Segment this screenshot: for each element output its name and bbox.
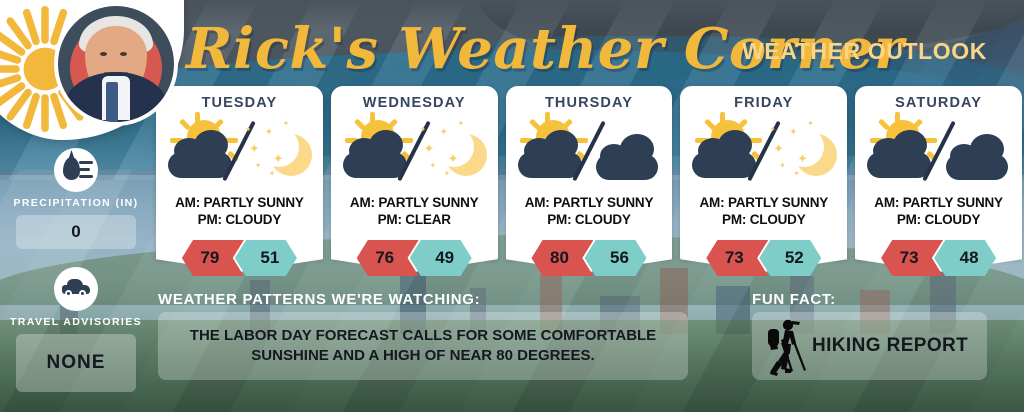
forecast-card[interactable]: SATURDAY	[855, 86, 1022, 282]
cloud-base	[343, 152, 407, 178]
fun-fact-box[interactable]: HIKING REPORT	[752, 312, 987, 380]
card-pm-line: PM: CLEAR	[334, 211, 495, 228]
car-wheel	[79, 290, 86, 297]
card-description: AM: PARTLY SUNNY PM: CLOUDY	[159, 194, 320, 229]
weather-patterns-label: WEATHER PATTERNS WE'RE WATCHING:	[158, 291, 480, 308]
high-temp-badge: 80	[531, 240, 593, 276]
avatar	[58, 6, 174, 122]
card-weather-icons: ✦ ✦ ✦ ✦ ✦ ✦ ✦	[331, 112, 498, 190]
fun-fact-label: FUN FACT:	[752, 291, 836, 308]
card-day-label: FRIDAY	[680, 95, 847, 111]
temperature-badges: 80 56	[506, 238, 673, 278]
card-am-line: AM: PARTLY SUNNY	[509, 194, 670, 211]
card-pm-line: PM: CLOUDY	[858, 211, 1019, 228]
high-temp-badge: 73	[706, 240, 768, 276]
drop-lines	[79, 161, 93, 182]
card-weather-icons: ✦ ✦ ✦ ✦ ✦ ✦ ✦	[680, 112, 847, 190]
water-drop-icon	[54, 148, 98, 192]
cloud-icon	[592, 116, 665, 186]
low-temp-badge: 52	[759, 240, 821, 276]
high-temp-badge: 73	[881, 240, 943, 276]
card-am-line: AM: PARTLY SUNNY	[683, 194, 844, 211]
temperature-badges: 73 48	[855, 238, 1022, 278]
weather-patterns-text: THE LABOR DAY FORECAST CALLS FOR SOME CO…	[158, 312, 688, 380]
temperature-badges: 79 51	[156, 238, 323, 278]
sidebar: PRECIPITATION (IN) 0 TRAVEL ADVISORIES N…	[0, 148, 152, 392]
cloud-puff	[970, 134, 1004, 164]
card-weather-icons	[506, 112, 673, 190]
car-shape	[62, 281, 90, 297]
high-temp-badge: 76	[357, 240, 419, 276]
card-day-label: TUESDAY	[156, 95, 323, 111]
card-am-line: AM: PARTLY SUNNY	[334, 194, 495, 211]
crescent-moon-stars-icon: ✦ ✦ ✦ ✦ ✦ ✦ ✦	[767, 116, 840, 186]
car-wheel	[65, 290, 72, 297]
precipitation-value: 0	[16, 215, 136, 249]
card-description: AM: PARTLY SUNNY PM: CLOUDY	[509, 194, 670, 229]
low-temp-badge: 48	[934, 240, 996, 276]
drop-shape	[63, 157, 80, 180]
low-temp-badge: 51	[235, 240, 297, 276]
cloud-base	[867, 152, 931, 178]
car-icon	[54, 267, 98, 311]
hiker-icon	[758, 316, 812, 376]
card-am-line: AM: PARTLY SUNNY	[159, 194, 320, 211]
card-pm-line: PM: CLOUDY	[509, 211, 670, 228]
forecast-card[interactable]: THURSDAY	[506, 86, 673, 282]
weather-graphic: Rick's Weather Corner WEATHER OUTLOOK TU…	[0, 0, 1024, 412]
weather-outlook-label: WEATHER OUTLOOK	[742, 38, 987, 65]
cloud-base	[692, 152, 756, 178]
travel-advisories-value: NONE	[16, 334, 136, 392]
avatar-eye	[120, 52, 127, 56]
travel-advisories-label: TRAVEL ADVISORIES	[0, 316, 152, 328]
cloud-base	[168, 152, 232, 178]
forecast-card[interactable]: TUESDAY ✦ ✦	[156, 86, 323, 282]
card-day-label: WEDNESDAY	[331, 95, 498, 111]
card-day-label: THURSDAY	[506, 95, 673, 111]
temperature-badges: 73 52	[680, 238, 847, 278]
crescent-moon-stars-icon: ✦ ✦ ✦ ✦ ✦ ✦ ✦	[243, 116, 316, 186]
card-description: AM: PARTLY SUNNY PM: CLOUDY	[683, 194, 844, 229]
card-am-line: AM: PARTLY SUNNY	[858, 194, 1019, 211]
high-temp-badge: 79	[182, 240, 244, 276]
forecast-row: TUESDAY ✦ ✦	[156, 86, 1022, 282]
avatar-eye	[100, 52, 107, 56]
forecast-card[interactable]: FRIDAY ✦ ✦	[680, 86, 847, 282]
precipitation-label: PRECIPITATION (IN)	[0, 197, 152, 209]
avatar-tie	[106, 82, 118, 122]
low-temp-badge: 56	[584, 240, 646, 276]
cloud-icon	[942, 116, 1015, 186]
card-description: AM: PARTLY SUNNY PM: CLOUDY	[858, 194, 1019, 229]
card-pm-line: PM: CLOUDY	[683, 211, 844, 228]
card-weather-icons: ✦ ✦ ✦ ✦ ✦ ✦ ✦	[156, 112, 323, 190]
card-weather-icons	[855, 112, 1022, 190]
card-description: AM: PARTLY SUNNY PM: CLEAR	[334, 194, 495, 229]
low-temp-badge: 49	[410, 240, 472, 276]
temperature-badges: 76 49	[331, 238, 498, 278]
forecast-card[interactable]: WEDNESDAY ✦ ✦	[331, 86, 498, 282]
card-pm-line: PM: CLOUDY	[159, 211, 320, 228]
fun-fact-text: HIKING REPORT	[812, 335, 968, 357]
cloud-base	[518, 152, 582, 178]
crescent-moon-stars-icon: ✦ ✦ ✦ ✦ ✦ ✦ ✦	[418, 116, 491, 186]
card-day-label: SATURDAY	[855, 95, 1022, 111]
